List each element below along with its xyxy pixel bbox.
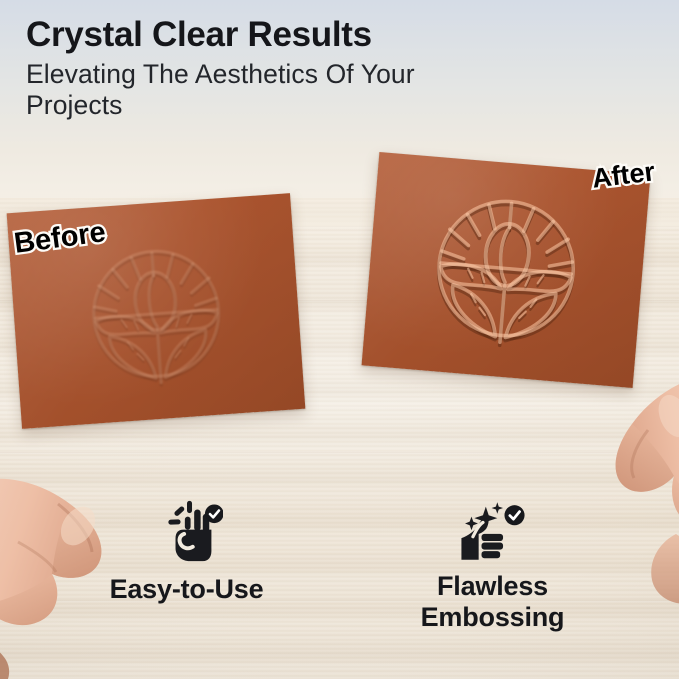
feature-easy-to-use: Easy-to-Use <box>77 498 297 605</box>
coffee-bean-sunrise-leaves-logo-icon <box>71 230 242 401</box>
feature-flawless-embossing: Flawless Embossing <box>383 498 603 633</box>
feature-list: Easy-to-Use <box>0 498 679 658</box>
heading-block: Crystal Clear Results Elevating The Aest… <box>26 16 626 121</box>
page-subtitle: Elevating The Aesthetics Of Your Project… <box>26 59 446 122</box>
feature-label: Flawless Embossing <box>383 571 603 633</box>
feature-label: Easy-to-Use <box>110 574 264 605</box>
page-title: Crystal Clear Results <box>26 16 626 54</box>
emboss-logo-after <box>413 177 599 363</box>
product-marketing-image: Crystal Clear Results Elevating The Aest… <box>0 0 679 679</box>
thumbs-up-sparkle-icon <box>457 498 529 564</box>
hand-tap-gesture-icon <box>151 498 223 564</box>
coffee-bean-sunrise-leaves-logo-icon <box>413 177 599 363</box>
emboss-logo-before <box>71 230 242 401</box>
